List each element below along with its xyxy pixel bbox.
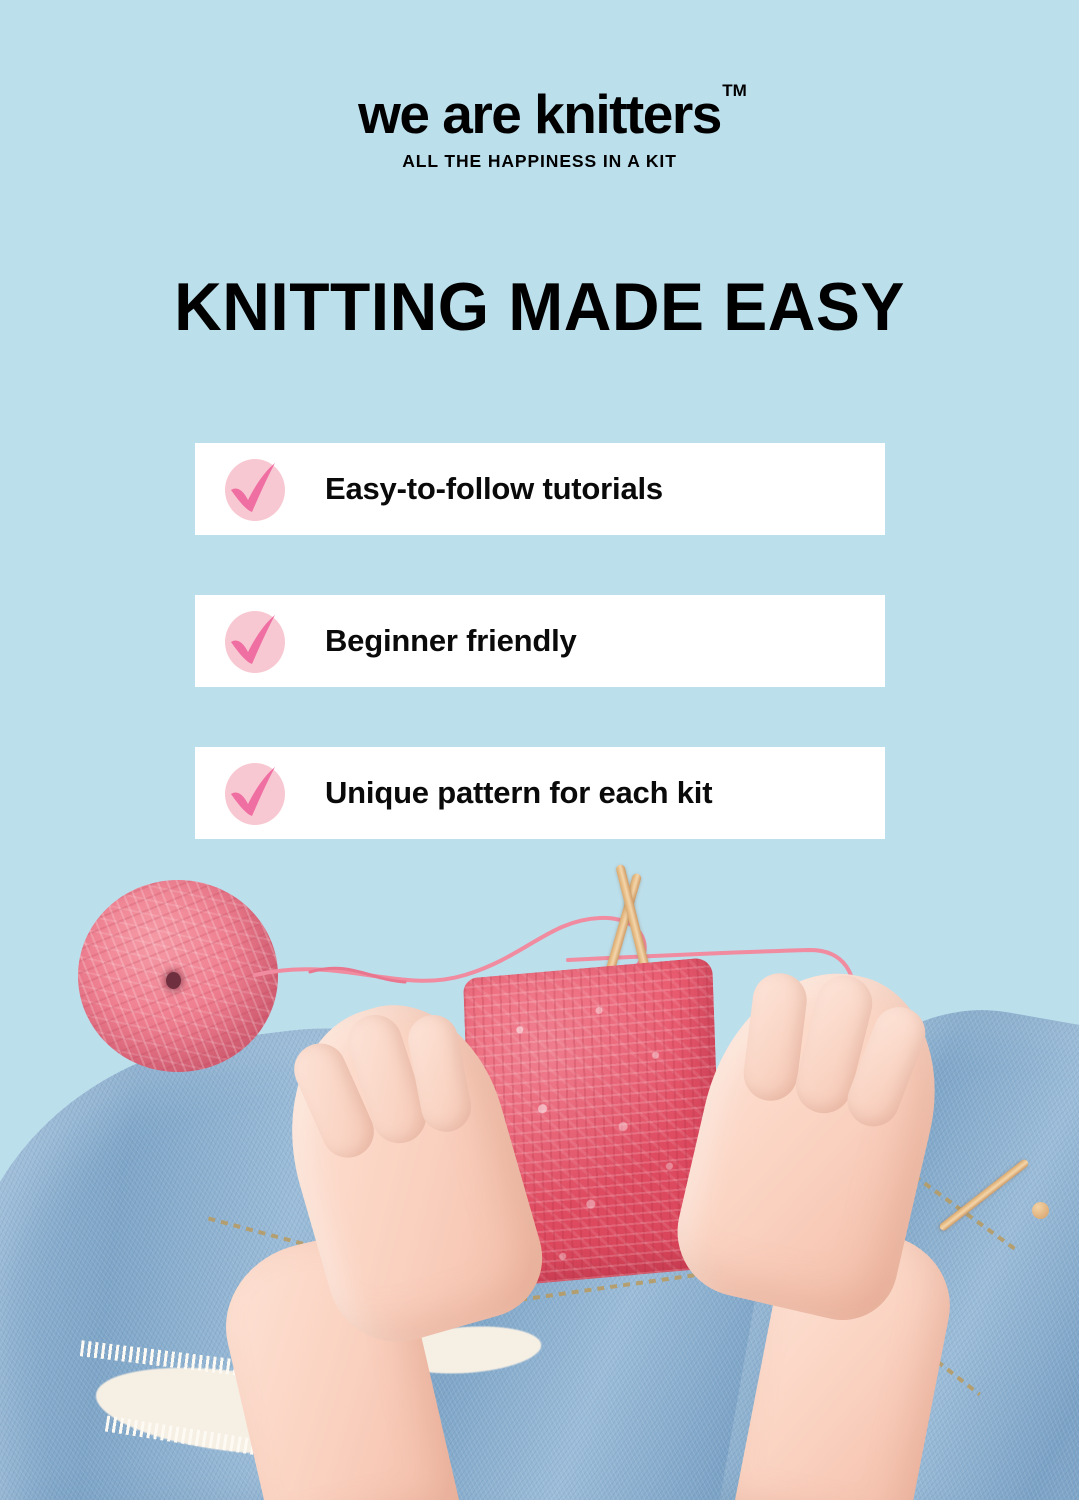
page-title: KNITTING MADE EASY xyxy=(16,268,1063,346)
brand-logo: we are knitters TM ALL THE HAPPINESS IN … xyxy=(0,86,1079,172)
check-icon xyxy=(217,758,293,828)
feature-item-beginner: Beginner friendly xyxy=(195,595,885,687)
logo-tagline: ALL THE HAPPINESS IN A KIT xyxy=(0,151,1079,172)
feature-label: Beginner friendly xyxy=(325,623,577,659)
trademark-icon: TM xyxy=(722,82,747,100)
yarn-ball xyxy=(78,880,278,1072)
poster-canvas: we are knitters TM ALL THE HAPPINESS IN … xyxy=(0,0,1079,1500)
check-icon xyxy=(217,606,293,676)
needle-knob xyxy=(1032,1202,1049,1219)
feature-list: Easy-to-follow tutorials Beginner friend… xyxy=(195,443,885,839)
check-badge xyxy=(217,595,293,687)
logo-wordmark: we are knitters TM xyxy=(358,86,721,144)
yarn-ball-center-hole xyxy=(166,972,181,989)
feature-item-tutorials: Easy-to-follow tutorials xyxy=(195,443,885,535)
knitting-photo xyxy=(0,860,1079,1500)
feature-label: Unique pattern for each kit xyxy=(325,775,712,811)
check-badge xyxy=(217,443,293,535)
feature-label: Easy-to-follow tutorials xyxy=(325,471,663,507)
feature-item-pattern: Unique pattern for each kit xyxy=(195,747,885,839)
check-badge xyxy=(217,747,293,839)
logo-wordmark-text: we are knitters xyxy=(358,83,721,145)
check-icon xyxy=(217,454,293,524)
